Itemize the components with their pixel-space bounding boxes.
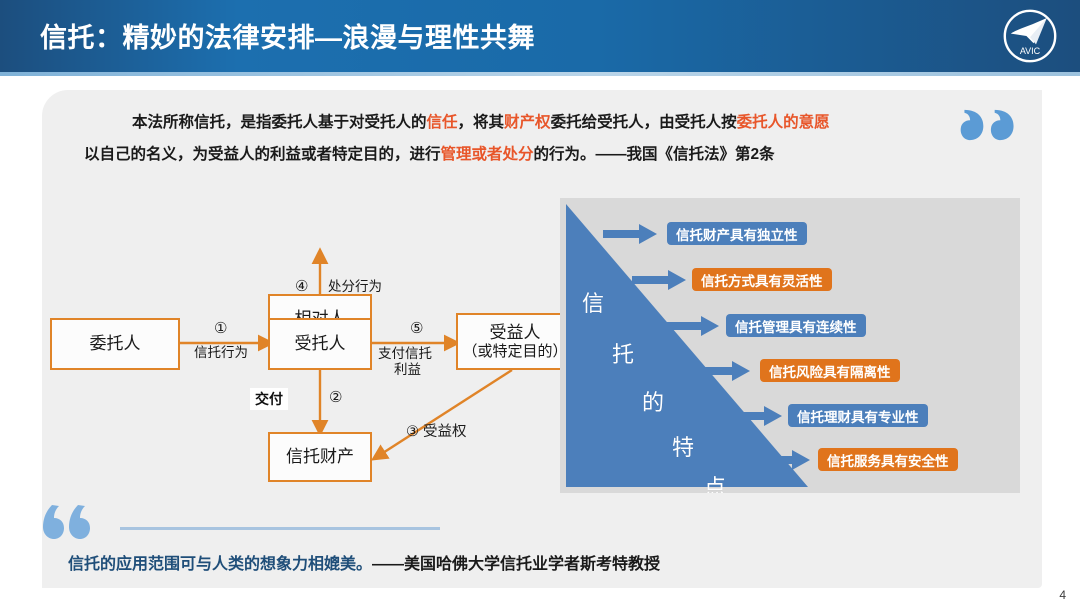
diagram-label-pay-benefit-2: 利益	[394, 362, 421, 378]
arrow-right-icon-5	[728, 406, 782, 426]
quote-highlight-intent: 委托人的意愿	[737, 114, 830, 131]
bottom-quote-divider	[120, 527, 440, 530]
quote-seg: ，将其	[458, 114, 505, 131]
arrow-right-icon-2	[632, 270, 686, 290]
bottom-quote: 信托的应用范围可与人类的想象力相媲美。——美国哈佛大学信托业学者斯考特教授	[68, 550, 660, 574]
quote-highlight-trust: 信任	[427, 114, 458, 131]
quote-seg: 的行为。——我国《信托法》第2条	[534, 146, 775, 163]
trust-relationship-diagram: 相对人 委托人 受托人 受益人 （或特定目的） 信托财产 ① ② ④ ⑤ 信托行…	[42, 195, 582, 495]
quote-seg: 以自己的名义，为受益人的利益或者特定目的，进行	[84, 146, 441, 163]
diagram-step-4: ④	[295, 277, 308, 295]
quote-seg: 委托给受托人，由受托人按	[551, 114, 737, 131]
feature-pill-3: 信托管理具有连续性	[726, 314, 866, 337]
box-label: 委托人	[90, 334, 141, 354]
feature-pill-5: 信托理财具有专业性	[788, 404, 928, 427]
triangle-char-1: 托	[612, 337, 634, 369]
quote-mark-icon	[960, 108, 1018, 142]
law-quote: 本法所称信托，是指委托人基于对受托人的信任，将其财产权委托给受托人，由受托人按委…	[84, 108, 964, 170]
triangle-char-4: 点	[704, 470, 726, 493]
arrow-right-icon-3	[665, 316, 719, 336]
arrow-right-icon-1	[603, 224, 657, 244]
diagram-step-5: ⑤	[410, 319, 423, 337]
triangle-char-3: 特	[672, 430, 694, 462]
slide-header: 信托：精妙的法律安排—浪漫与理性共舞 AVIC	[0, 0, 1080, 72]
diagram-box-trustee: 受托人	[268, 318, 372, 370]
slide: 信托：精妙的法律安排—浪漫与理性共舞 AVIC 本法所称信托，是指委托人基于对受…	[0, 0, 1080, 608]
arrow-right-icon-6	[756, 450, 810, 470]
header-accent-bar	[0, 72, 1080, 76]
quote-seg: 本法所称信托，是指委托人基于对受托人的	[132, 114, 427, 131]
feature-pill-4: 信托风险具有隔离性	[760, 359, 900, 382]
diagram-step-1: ①	[214, 319, 227, 337]
box-label: 信托财产	[286, 447, 354, 467]
diagram-box-beneficiary: 受益人 （或特定目的）	[456, 313, 574, 370]
trust-features-panel: 信 托 的 特 点 信托财产具有	[560, 198, 1020, 493]
arrow-right-icon-4	[696, 361, 750, 381]
diagram-label-delivery: 交付	[250, 388, 288, 410]
box-label: 受托人	[295, 334, 346, 354]
feature-pill-2: 信托方式具有灵活性	[692, 268, 832, 291]
quote-highlight-property: 财产权	[504, 114, 551, 131]
box-label-line2: （或特定目的）	[462, 342, 567, 361]
diagram-label-disposal-act: 处分行为	[328, 279, 382, 295]
svg-text:AVIC: AVIC	[1020, 46, 1041, 56]
law-quote-line-1: 本法所称信托，是指委托人基于对受托人的信任，将其财产权委托给受托人，由受托人按委…	[84, 108, 964, 138]
diagram-step-2: ②	[329, 388, 342, 406]
bottom-quote-mark-icon	[42, 505, 98, 539]
feature-pill-6: 信托服务具有安全性	[818, 448, 958, 471]
diagram-box-trust-property: 信托财产	[268, 432, 372, 482]
diagram-label-beneficial-right: ③ 受益权	[406, 424, 467, 440]
diagram-box-settlor: 委托人	[50, 318, 180, 370]
bottom-quote-main: 信托的应用范围可与人类的想象力相媲美。	[68, 556, 372, 573]
bottom-quote-source: ——美国哈佛大学信托业学者斯考特教授	[372, 556, 660, 573]
page-title: 信托：精妙的法律安排—浪漫与理性共舞	[40, 16, 535, 55]
content-card: 本法所称信托，是指委托人基于对受托人的信任，将其财产权委托给受托人，由受托人按委…	[42, 90, 1042, 588]
diagram-label-trust-act: 信托行为	[194, 345, 248, 361]
quote-highlight-manage: 管理或者处分	[441, 146, 534, 163]
avic-logo-icon: AVIC	[1000, 6, 1060, 66]
triangle-char-2: 的	[642, 385, 664, 417]
diagram-label-pay-benefit-1: 支付信托	[378, 346, 432, 362]
page-number: 4	[1059, 588, 1066, 602]
law-quote-line-2: 以自己的名义，为受益人的利益或者特定目的，进行管理或者处分的行为。——我国《信托…	[84, 140, 964, 170]
feature-pill-1: 信托财产具有独立性	[667, 222, 807, 245]
box-label-line1: 受益人	[490, 323, 541, 342]
triangle-char-0: 信	[582, 286, 604, 318]
